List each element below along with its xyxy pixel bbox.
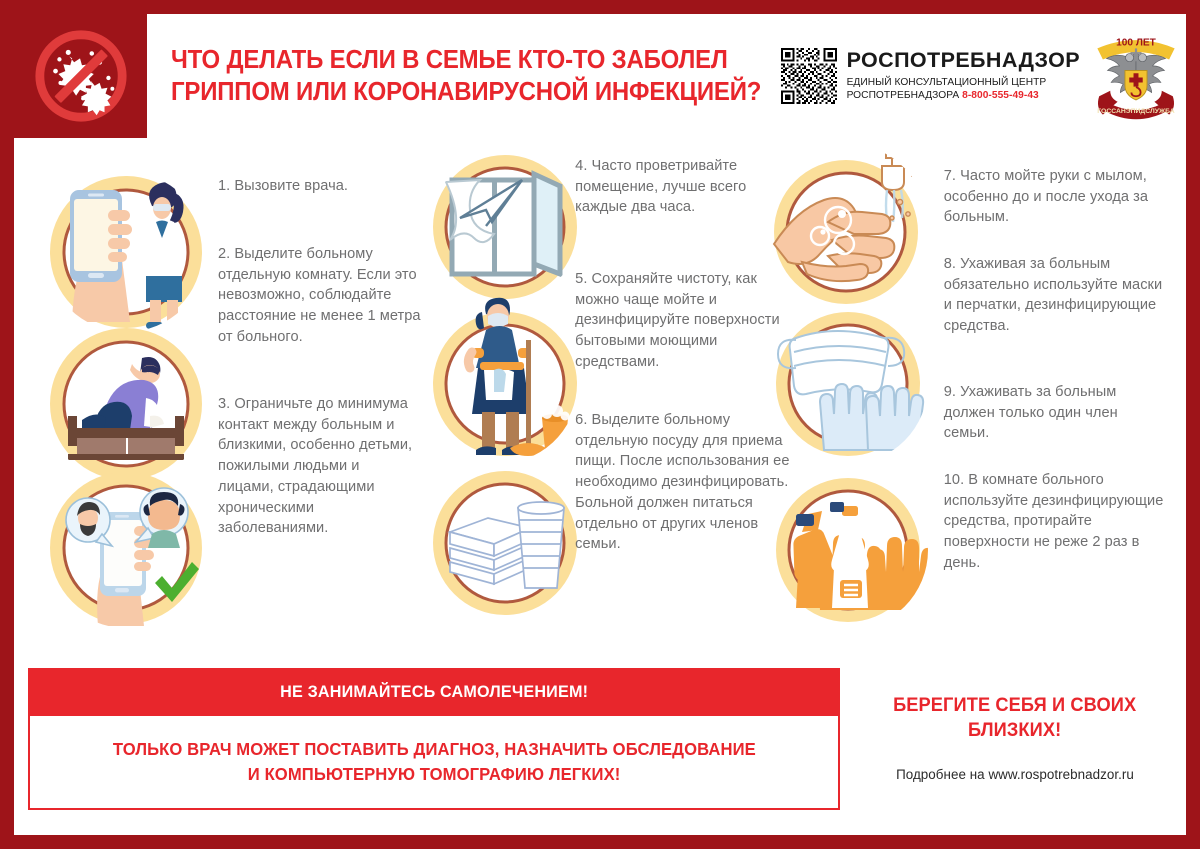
washing-hands-faucet-icon (768, 144, 928, 309)
tips-column-middle: 4. Часто проветривайте помещение, лучше … (423, 144, 784, 662)
tips-column-left: 1. Вызовите врача. (28, 144, 423, 662)
poster-root: ЧТО ДЕЛАТЬ ЕСЛИ В СЕМЬЕ КТО-ТО ЗАБОЛЕЛ Г… (0, 0, 1200, 849)
tip-2-text: 2. Выделите больному отдельную комнату. … (218, 244, 433, 348)
tip-1-text: 1. Вызовите врача. (218, 176, 428, 197)
footer-banner-block: НЕ ЗАНИМАЙТЕСЬ САМОЛЕЧЕНИЕМ! ТОЛЬКО ВРАЧ… (28, 668, 840, 832)
brand-subtitle-line-1: ЕДИНЫЙ КОНСУЛЬТАЦИОННЫЙ ЦЕНТР (847, 76, 1080, 89)
care-line-2: БЛИЗКИХ! (893, 719, 1136, 744)
brand-text: РОСПОТРЕБНАДЗОР ЕДИНЫЙ КОНСУЛЬТАЦИОННЫЙ … (847, 49, 1080, 103)
title-line-1: ЧТО ДЕЛАТЬ ЕСЛИ В СЕМЬЕ КТО-ТО ЗАБОЛЕЛ (171, 44, 722, 76)
gossanepidsluzhba-emblem: 100 ЛЕТ ГОССАНЭПИДСЛУЖБА (1090, 28, 1182, 124)
phone-video-chat-icon (46, 468, 206, 628)
tips-grid: 1. Вызовите врача. (14, 138, 1186, 662)
doctor-advice-banner: ТОЛЬКО ВРАЧ МОЖЕТ ПОСТАВИТЬ ДИАГНОЗ, НАЗ… (28, 716, 840, 810)
self-medication-warning-text: НЕ ЗАНИМАЙТЕСЬ САМОЛЕЧЕНИЕМ! (280, 682, 588, 702)
tip-8-text: 8. Ухаживая за больным обязательно испол… (944, 254, 1166, 337)
poster-footer: НЕ ЗАНИМАЙТЕСЬ САМОЛЕЧЕНИЕМ! ТОЛЬКО ВРАЧ… (14, 662, 1186, 832)
doctor-advice-line-1: ТОЛЬКО ВРАЧ МОЖЕТ ПОСТАВИТЬ ДИАГНОЗ, НАЗ… (113, 737, 756, 762)
tip-5-text: 5. Сохраняйте чистоту, как можно чаще мо… (575, 269, 790, 373)
poster-header: ЧТО ДЕЛАТЬ ЕСЛИ В СЕМЬЕ КТО-ТО ЗАБОЛЕЛ Г… (14, 14, 1186, 138)
care-message: БЕРЕГИТЕ СЕБЯ И СВОИХ БЛИЗКИХ! (893, 694, 1136, 743)
tip-3-text: 3. Ограничьте до минимума контакт между … (218, 394, 418, 539)
brand-subtitle-line-2: РОСПОТРЕБНАДЗОРА 8-800-555-49-43 (847, 89, 1080, 102)
tip-6-text: 6. Выделите больному отдельную посуду дл… (575, 410, 795, 555)
poster-title: ЧТО ДЕЛАТЬ ЕСЛИ В СЕМЬЕ КТО-ТО ЗАБОЛЕЛ Г… (147, 14, 757, 138)
self-medication-warning-banner: НЕ ЗАНИМАЙТЕСЬ САМОЛЕЧЕНИЕМ! (28, 668, 840, 716)
title-line-2: ГРИППОМ ИЛИ КОРОНАВИРУСНОЙ ИНФЕКЦИЕЙ? (171, 76, 722, 108)
footer-care-block: БЕРЕГИТЕ СЕБЯ И СВОИХ БЛИЗКИХ! Подробнее… (858, 668, 1172, 832)
care-line-1: БЕРЕГИТЕ СЕБЯ И СВОИХ (893, 694, 1136, 719)
hotline-number[interactable]: 8-800-555-49-43 (962, 90, 1039, 101)
disinfectant-bottles-gloves-icon (768, 470, 928, 630)
sick-person-on-sofa-icon (46, 324, 206, 484)
mask-and-gloves-icon (768, 304, 928, 464)
brand-name: РОСПОТРЕБНАДЗОР (847, 49, 1080, 73)
phone-call-doctor-icon (46, 172, 206, 332)
doctor-advice-line-2: И КОМПЬЮТЕРНУЮ ТОМОГРАФИЮ ЛЕГКИХ! (248, 762, 621, 787)
brand-block: РОСПОТРЕБНАДЗОР ЕДИНЫЙ КОНСУЛЬТАЦИОННЫЙ … (757, 14, 1186, 138)
open-window-airing-icon (430, 152, 580, 302)
tips-column-right: 7. Часто мойте руки с мылом, особенно до… (784, 144, 1172, 662)
tip-10-text: 10. В комнате больного используйте дезин… (944, 470, 1166, 574)
cleaning-woman-mop-icon (430, 292, 580, 462)
qr-code-icon[interactable] (781, 48, 837, 104)
tip-9-text: 9. Ухаживать за больным должен только од… (944, 382, 1166, 444)
no-virus-icon (14, 14, 147, 138)
tip-4-text: 4. Часто проветривайте помещение, лучше … (575, 156, 790, 218)
emblem-banner-text: 100 ЛЕТ (1116, 38, 1157, 49)
poster-sheet: ЧТО ДЕЛАТЬ ЕСЛИ В СЕМЬЕ КТО-ТО ЗАБОЛЕЛ Г… (14, 14, 1186, 835)
emblem-ribbon-text: ГОССАНЭПИДСЛУЖБА (1097, 108, 1174, 115)
disposable-dishes-icon (430, 468, 580, 618)
website-link[interactable]: Подробнее на www.rospotrebnadzor.ru (896, 767, 1134, 782)
brand-subtitle: ЕДИНЫЙ КОНСУЛЬТАЦИОННЫЙ ЦЕНТР РОСПОТРЕБН… (847, 76, 1080, 103)
tip-7-text: 7. Часто мойте руки с мылом, особенно до… (944, 166, 1166, 228)
